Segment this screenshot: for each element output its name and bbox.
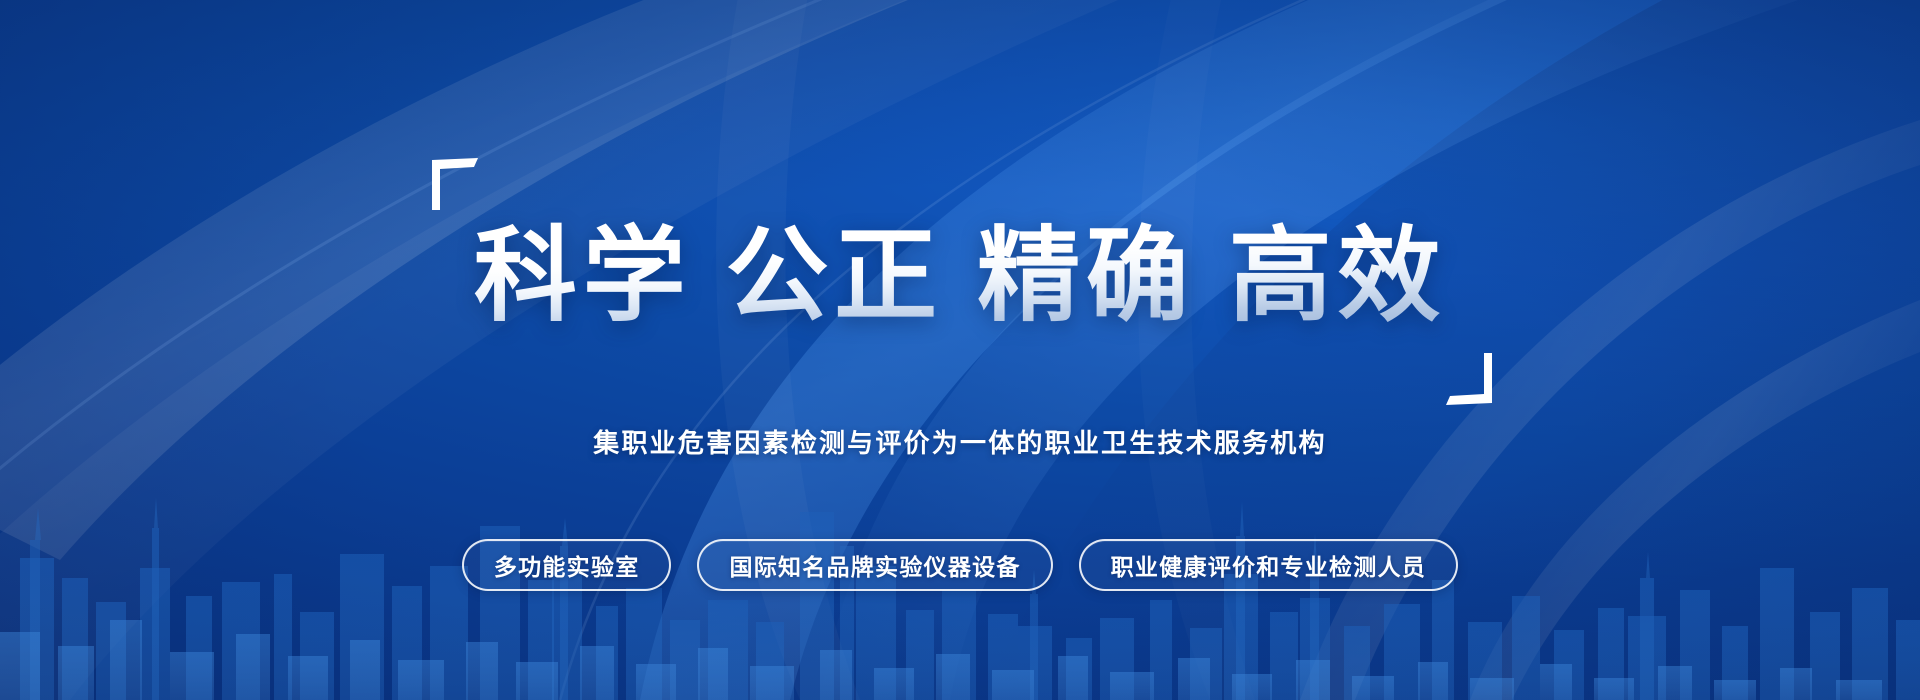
feature-pill-equipment[interactable]: 国际知名品牌实验仪器设备	[697, 539, 1052, 591]
feature-pill-row: 多功能实验室 国际知名品牌实验仪器设备 职业健康评价和专业检测人员	[462, 539, 1458, 591]
hero-banner: 科学 公正 精确 高效 集职业危害因素检测与评价为一体的职业卫生技术服务机构 多…	[0, 0, 1920, 700]
feature-pill-personnel[interactable]: 职业健康评价和专业检测人员	[1079, 539, 1458, 591]
page-title: 科学 公正 精确 高效	[474, 221, 1446, 330]
corner-bracket-open-icon	[432, 158, 478, 210]
headline-block: 科学 公正 精确 高效	[428, 152, 1492, 399]
page-subtitle: 集职业危害因素检测与评价为一体的职业卫生技术服务机构	[593, 423, 1326, 460]
banner-content: 科学 公正 精确 高效 集职业危害因素检测与评价为一体的职业卫生技术服务机构 多…	[0, 0, 1920, 700]
feature-pill-laboratory[interactable]: 多功能实验室	[462, 539, 672, 591]
corner-bracket-close-icon	[1446, 353, 1492, 405]
